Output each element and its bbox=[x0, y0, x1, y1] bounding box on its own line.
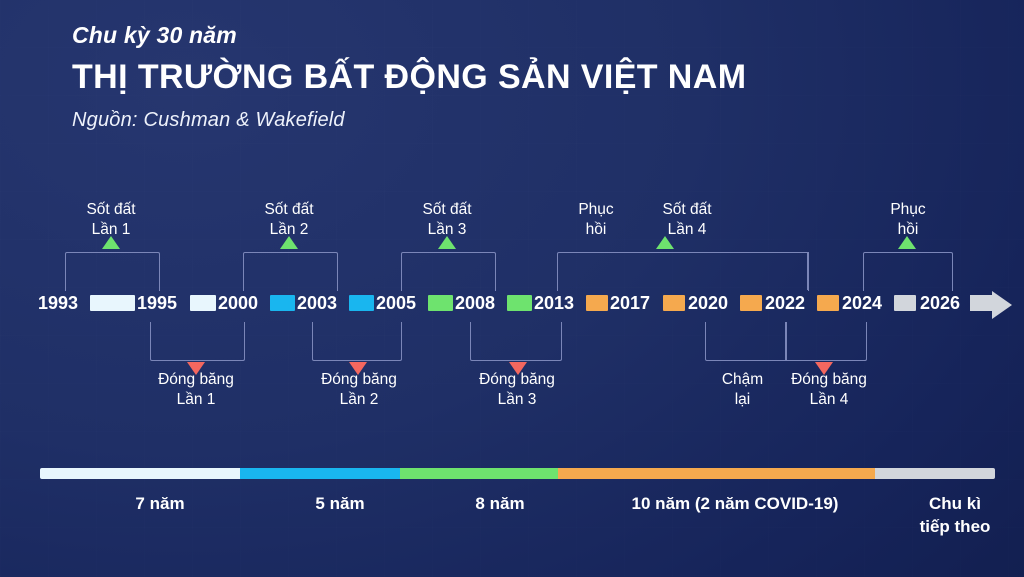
legend-label-5-line1: Chu kì bbox=[880, 492, 1024, 515]
legend-label-1: 7 năm bbox=[65, 492, 255, 515]
legend-labels-layer: 7 năm5 năm8 năm10 năm (2 năm COVID-19)Ch… bbox=[0, 0, 1024, 577]
legend-label-5-line2: tiếp theo bbox=[880, 515, 1024, 538]
legend-label-4: 10 năm (2 năm COVID-19) bbox=[590, 492, 880, 515]
legend-label-3: 8 năm bbox=[405, 492, 595, 515]
legend-label-5: Chu kìtiếp theo bbox=[880, 492, 1024, 538]
